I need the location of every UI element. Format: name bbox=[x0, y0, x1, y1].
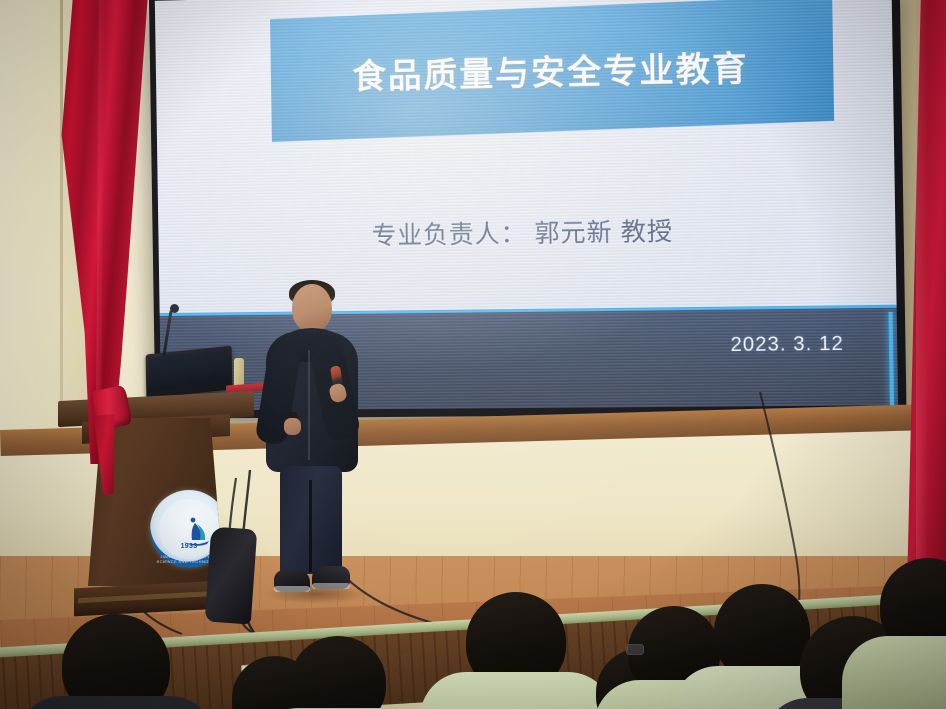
audience-head bbox=[62, 614, 170, 709]
laptop[interactable] bbox=[146, 346, 233, 399]
audience-head bbox=[290, 636, 386, 709]
audience-shoulders bbox=[16, 696, 216, 709]
eyeglasses-icon bbox=[626, 644, 644, 655]
audience-shoulders bbox=[420, 672, 614, 709]
audience bbox=[0, 540, 946, 709]
lecture-hall-scene: 食品质量与安全专业教育 专业负责人： 郭元新 教授 2023. 3. 12 bbox=[0, 0, 946, 709]
presenter-head bbox=[292, 284, 332, 332]
presenter-left-hand bbox=[284, 418, 301, 435]
laptop-screen bbox=[149, 349, 230, 392]
presenter-jacket-zipper bbox=[308, 350, 310, 460]
gooseneck-microphone-head bbox=[170, 304, 179, 313]
audience-shoulders bbox=[842, 636, 946, 709]
